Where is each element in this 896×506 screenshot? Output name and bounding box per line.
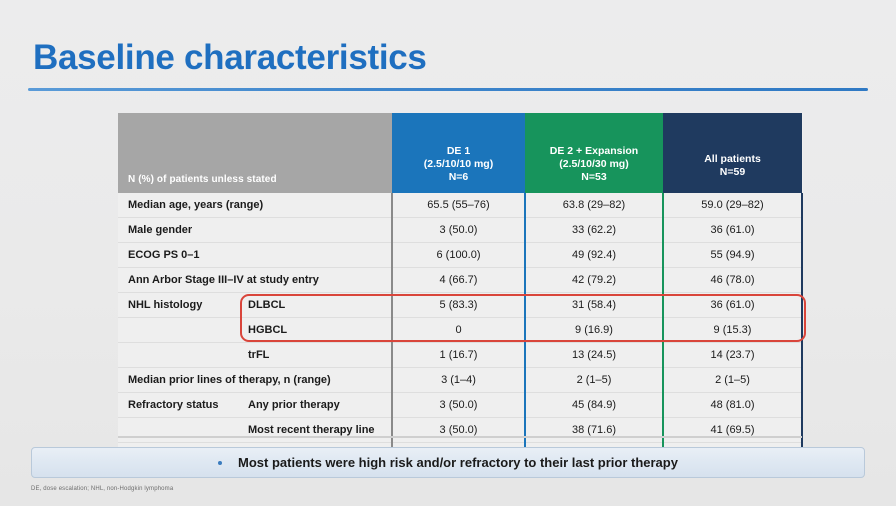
cell-all: 41 (69.5) (663, 418, 802, 443)
row-label: Male gender (128, 224, 192, 236)
cell-all: 2 (1–5) (663, 368, 802, 393)
row-label-cell: Median age, years (range) (118, 193, 392, 218)
cell-de2: 38 (71.6) (525, 418, 663, 443)
title-underline (28, 88, 868, 91)
cell-de2: 13 (24.5) (525, 343, 663, 368)
row-group-label: NHL histology (128, 299, 248, 311)
header-de1-line2: (2.5/10/10 mg) (392, 158, 525, 171)
header-de1-line1: DE 1 (392, 145, 525, 158)
cell-all: 36 (61.0) (663, 293, 802, 318)
cell-de2: 63.8 (29–82) (525, 193, 663, 218)
bullet-point-icon (218, 461, 222, 465)
row-sublabel: trFL (248, 349, 269, 361)
table-bottom-rule (118, 436, 802, 438)
table-row: Ann Arbor Stage III–IV at study entry4 (… (118, 268, 802, 293)
header-all-patients: All patients N=59 (663, 113, 802, 193)
cell-de1: 3 (50.0) (392, 218, 525, 243)
row-label-cell: HGBCL (118, 318, 392, 343)
cell-de2: 2 (1–5) (525, 368, 663, 393)
table-row: NHL histologyDLBCL5 (83.3)31 (58.4)36 (6… (118, 293, 802, 318)
cell-de1: 6 (100.0) (392, 243, 525, 268)
cell-all: 59.0 (29–82) (663, 193, 802, 218)
header-de2-line3: N=53 (525, 171, 663, 184)
header-all-line2: N=59 (663, 166, 802, 179)
cell-de1: 4 (66.7) (392, 268, 525, 293)
table-body: Median age, years (range)65.5 (55–76)63.… (118, 193, 802, 467)
table-row: trFL1 (16.7)13 (24.5)14 (23.7) (118, 343, 802, 368)
cell-de2: 45 (84.9) (525, 393, 663, 418)
row-label-cell: Refractory statusAny prior therapy (118, 393, 392, 418)
row-label: Ann Arbor Stage III–IV at study entry (128, 274, 319, 286)
table-row: HGBCL09 (16.9)9 (15.3) (118, 318, 802, 343)
header-all-line1: All patients (663, 153, 802, 166)
cell-all: 46 (78.0) (663, 268, 802, 293)
row-label-cell: Ann Arbor Stage III–IV at study entry (118, 268, 392, 293)
cell-de1: 1 (16.7) (392, 343, 525, 368)
header-de1-line3: N=6 (392, 171, 525, 184)
cell-de2: 9 (16.9) (525, 318, 663, 343)
header-label-column: N (%) of patients unless stated (118, 113, 392, 193)
cell-de2: 31 (58.4) (525, 293, 663, 318)
table-row: Most recent therapy line3 (50.0)38 (71.6… (118, 418, 802, 443)
cell-all: 55 (94.9) (663, 243, 802, 268)
key-message-bar: Most patients were high risk and/or refr… (31, 447, 865, 478)
cell-de1: 0 (392, 318, 525, 343)
row-group-label: Refractory status (128, 399, 248, 411)
key-message-text: Most patients were high risk and/or refr… (238, 455, 678, 470)
row-sublabel: HGBCL (248, 324, 287, 336)
cell-all: 48 (81.0) (663, 393, 802, 418)
row-label-cell: trFL (118, 343, 392, 368)
footnote-abbreviations: DE, dose escalation; NHL, non-Hodgkin ly… (31, 486, 173, 492)
slide-canvas: Baseline characteristics N (%) of patien… (0, 0, 896, 506)
cell-de1: 5 (83.3) (392, 293, 525, 318)
cell-de2: 33 (62.2) (525, 218, 663, 243)
table-row: Refractory statusAny prior therapy3 (50.… (118, 393, 802, 418)
header-de2-line2: (2.5/10/30 mg) (525, 158, 663, 171)
cell-de2: 42 (79.2) (525, 268, 663, 293)
row-sublabel: DLBCL (248, 299, 285, 311)
row-label-cell: ECOG PS 0–1 (118, 243, 392, 268)
row-label: Median age, years (range) (128, 199, 263, 211)
cell-de1: 65.5 (55–76) (392, 193, 525, 218)
row-sublabel: Most recent therapy line (248, 424, 375, 436)
table-row: Male gender3 (50.0)33 (62.2)36 (61.0) (118, 218, 802, 243)
row-label-cell: NHL histologyDLBCL (118, 293, 392, 318)
cell-all: 14 (23.7) (663, 343, 802, 368)
page-title: Baseline characteristics (33, 38, 427, 78)
row-label: Median prior lines of therapy, n (range) (128, 374, 331, 386)
cell-all: 36 (61.0) (663, 218, 802, 243)
table-row: Median age, years (range)65.5 (55–76)63.… (118, 193, 802, 218)
row-label: ECOG PS 0–1 (128, 249, 200, 261)
table-row: ECOG PS 0–16 (100.0)49 (92.4)55 (94.9) (118, 243, 802, 268)
cell-de1: 3 (50.0) (392, 393, 525, 418)
header-de1: DE 1 (2.5/10/10 mg) N=6 (392, 113, 525, 193)
cell-de1: 3 (1–4) (392, 368, 525, 393)
header-de2: DE 2 + Expansion (2.5/10/30 mg) N=53 (525, 113, 663, 193)
baseline-characteristics-table: N (%) of patients unless stated DE 1 (2.… (118, 113, 802, 467)
row-label-cell: Most recent therapy line (118, 418, 392, 443)
row-label-cell: Median prior lines of therapy, n (range) (118, 368, 392, 393)
cell-de2: 49 (92.4) (525, 243, 663, 268)
cell-de1: 3 (50.0) (392, 418, 525, 443)
row-label-cell: Male gender (118, 218, 392, 243)
header-de2-line1: DE 2 + Expansion (525, 145, 663, 158)
table-header-row: N (%) of patients unless stated DE 1 (2.… (118, 113, 802, 193)
row-sublabel: Any prior therapy (248, 399, 340, 411)
table-row: Median prior lines of therapy, n (range)… (118, 368, 802, 393)
cell-all: 9 (15.3) (663, 318, 802, 343)
